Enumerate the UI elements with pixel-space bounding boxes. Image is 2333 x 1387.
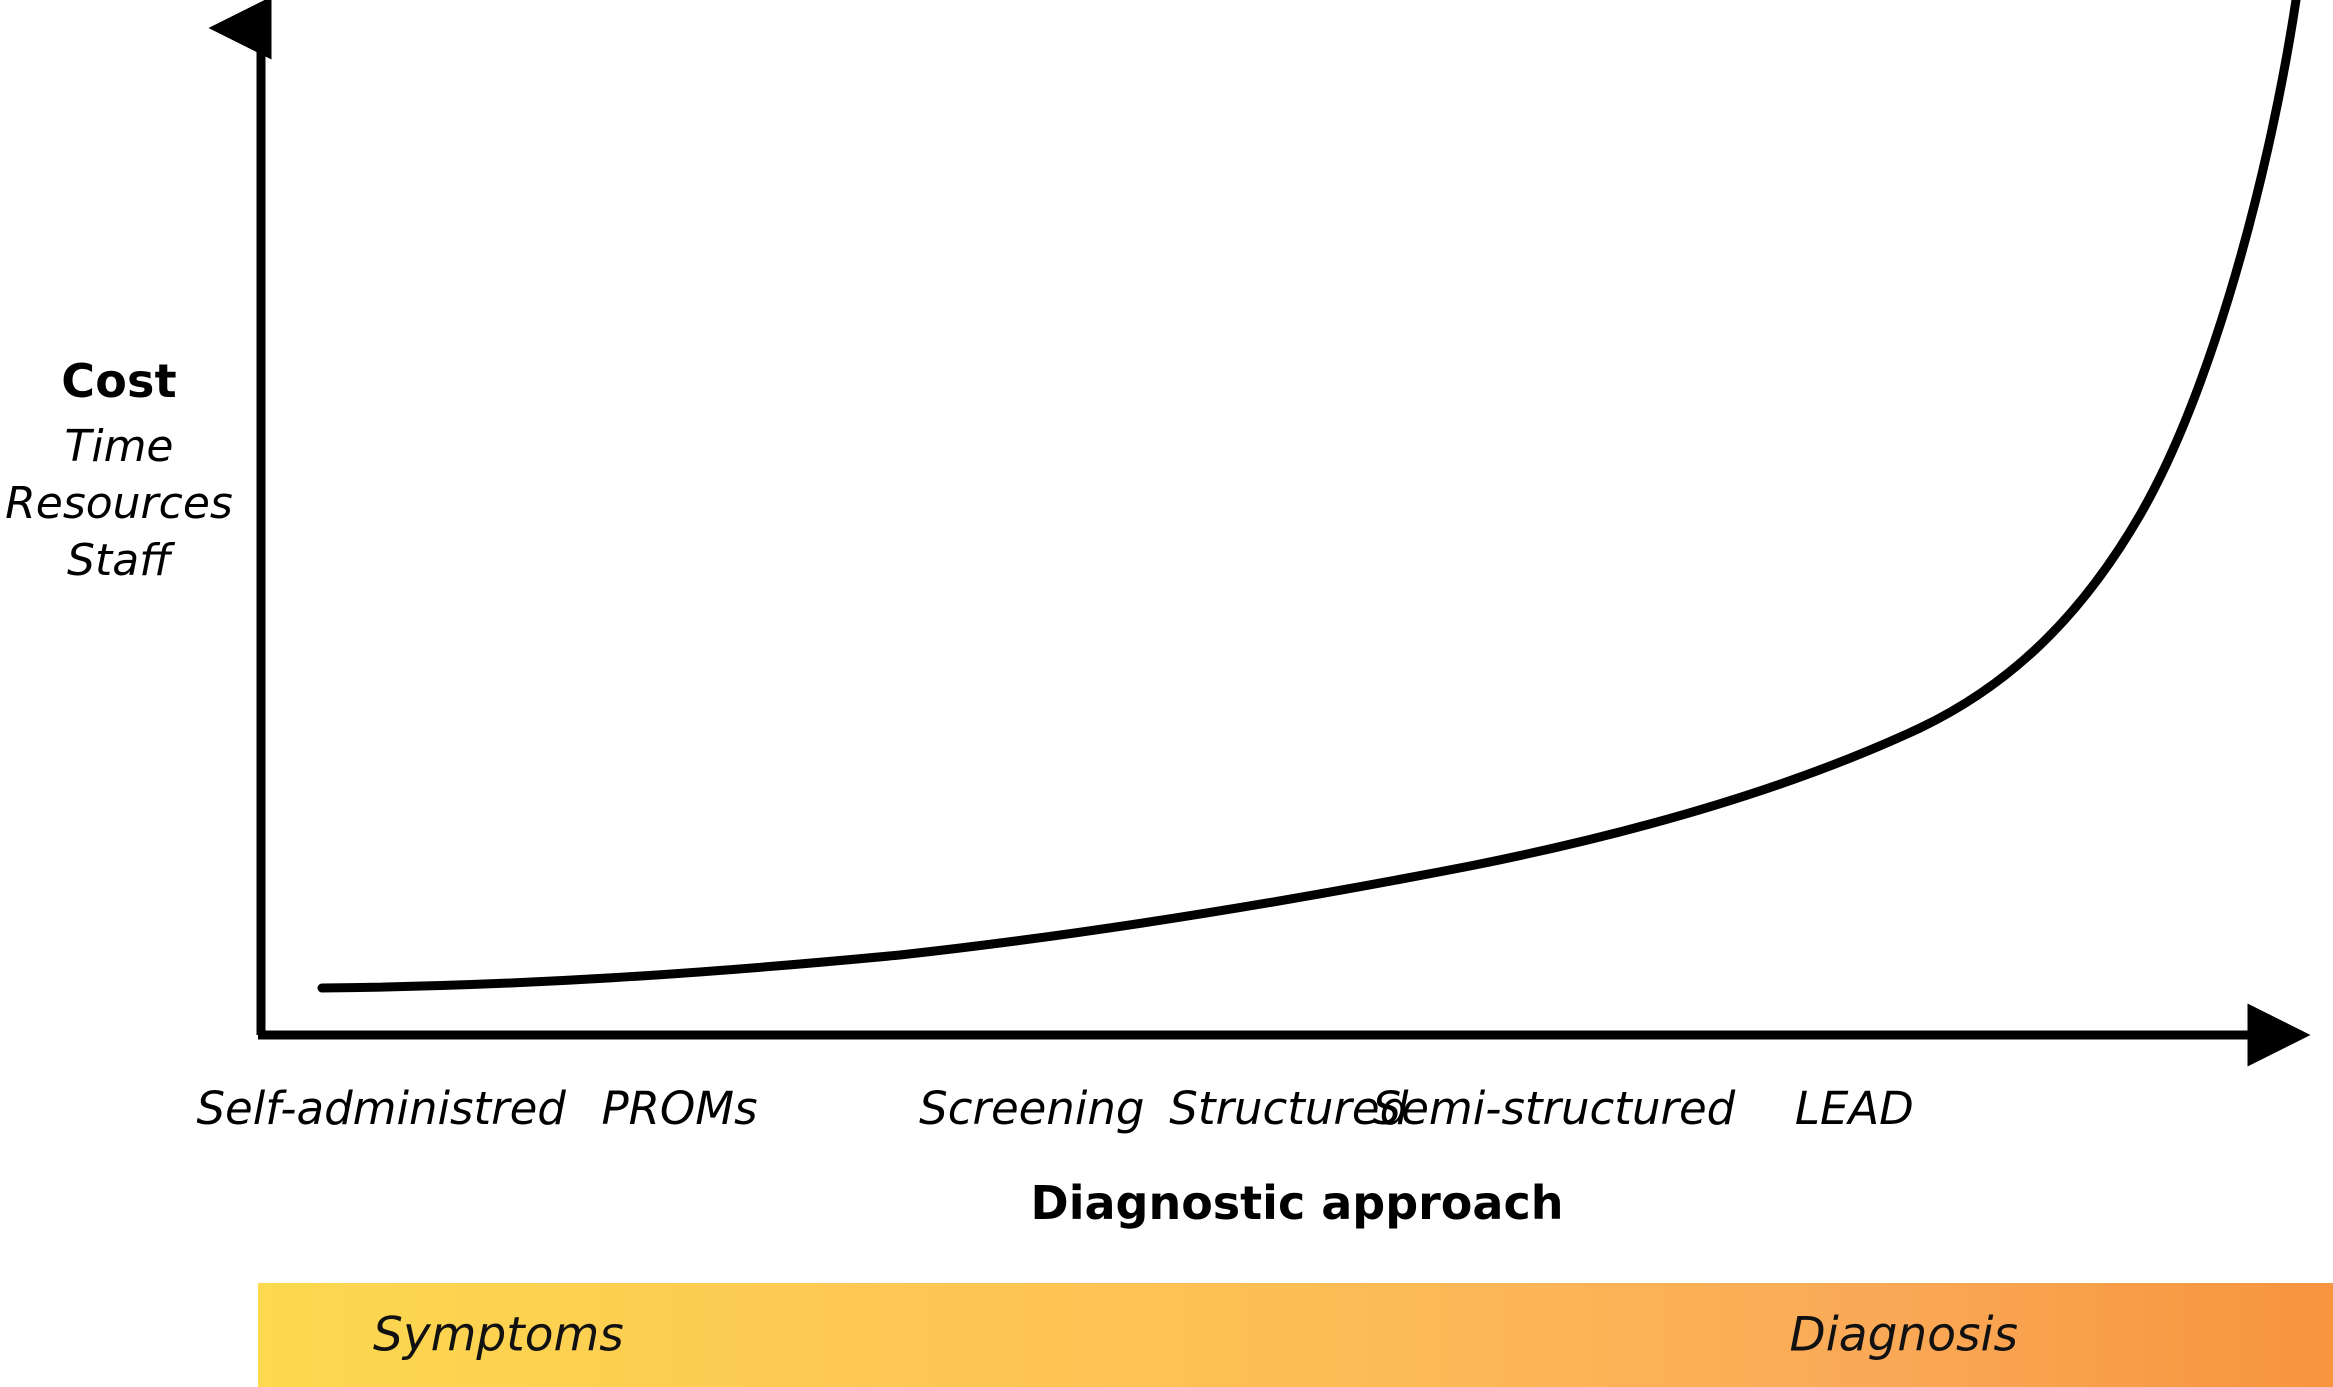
y-axis-subline-time: Time — [0, 418, 238, 475]
cost-curve — [322, 0, 2296, 988]
x-axis-tick-labels: Self-administred PROMs Screening Structu… — [261, 1082, 2333, 1152]
x-tick-label-semi-structured: Semi-structured — [1373, 1082, 1736, 1135]
symptoms-to-diagnosis-gradient-bar: Symptoms Diagnosis — [258, 1283, 2333, 1387]
y-axis-label-group: Cost Time Resources Staff — [0, 352, 238, 589]
cost-vs-diagnostic-approach-figure: Cost Time Resources Staff Self-administr… — [0, 0, 2333, 1387]
x-tick-label-self-administred: Self-administred — [196, 1082, 565, 1135]
y-axis-title: Cost — [0, 352, 238, 412]
x-tick-label-lead: LEAD — [1795, 1082, 1914, 1135]
x-tick-label-screening: Screening — [919, 1082, 1144, 1135]
x-tick-label-proms: PROMs — [601, 1082, 757, 1135]
continuum-label-symptoms: Symptoms — [373, 1308, 624, 1363]
y-axis-subline-staff: Staff — [0, 532, 238, 589]
x-axis-title: Diagnostic approach — [261, 1176, 2333, 1230]
y-axis-subline-resources: Resources — [0, 475, 238, 532]
continuum-label-diagnosis: Diagnosis — [1790, 1308, 2018, 1363]
